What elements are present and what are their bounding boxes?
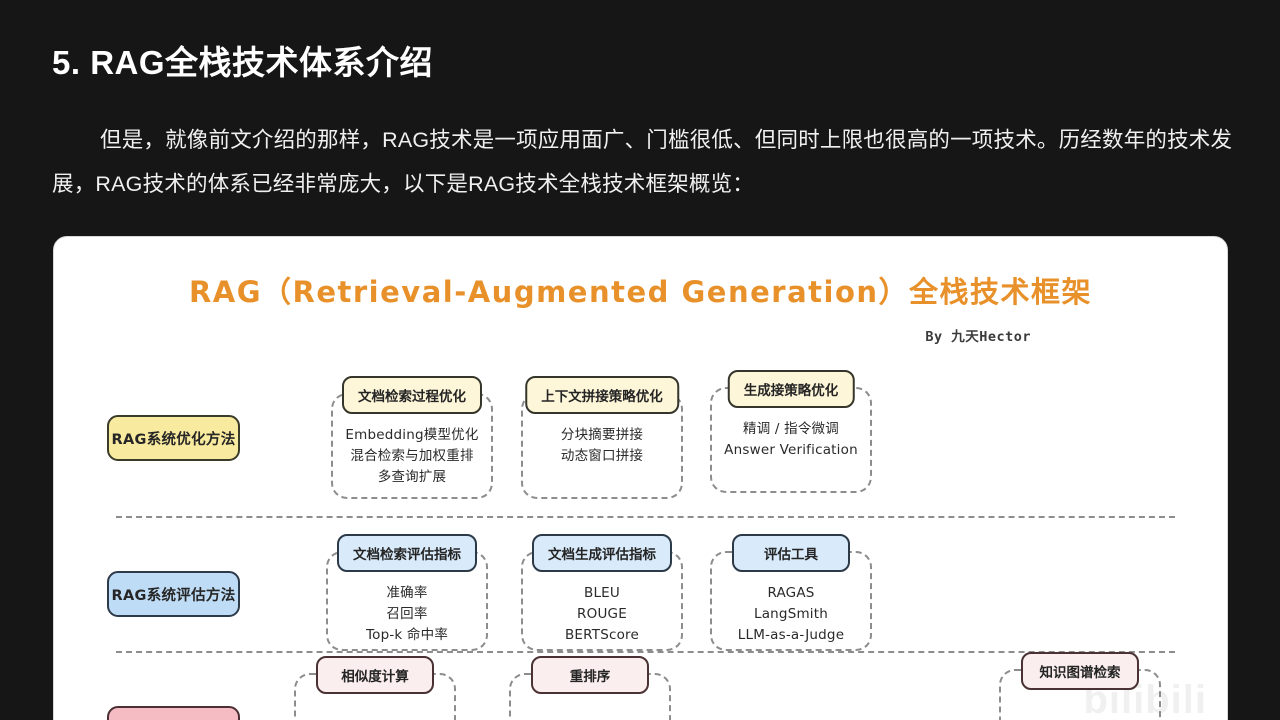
group-generation-strategy-optimization[interactable]: 生成接策略优化 精调 / 指令微调 Answer Verification [710,387,872,493]
group-item: 精调 / 指令微调 [712,419,870,440]
diagram-title: RAG（Retrieval-Augmented Generation）全栈技术框… [54,269,1227,311]
group-item: 准确率 [328,583,486,604]
group-item: 召回率 [328,604,486,625]
group-header[interactable]: 文档生成评估指标 [532,534,672,572]
row-optimization: RAG系统优化方法 文档检索过程优化 Embedding模型优化 混合检索与加权… [54,361,1227,515]
group-reranking[interactable]: 重排序 [509,673,671,720]
group-body: BLEU ROUGE BERTScore [523,583,681,646]
group-item: BLEU [523,583,681,604]
group-item: 分块摘要拼接 [523,425,681,446]
row-retrieval-techniques: 相似度计算 重排序 知识图谱检索 [54,651,1227,720]
row-separator-1 [116,516,1175,518]
group-item: 多查询扩展 [333,467,491,488]
body-paragraph: 但是，就像前文介绍的那样，RAG技术是一项应用面广、门槛很低、但同时上限也很高的… [52,118,1242,206]
page-title: 5. RAG全栈技术体系介绍 [52,36,433,84]
group-item: BERTScore [523,625,681,646]
group-body: 准确率 召回率 Top-k 命中率 [328,583,486,646]
group-header[interactable]: 知识图谱检索 [1021,652,1139,690]
category-rag-evaluation[interactable]: RAG系统评估方法 [107,571,240,617]
group-item: Answer Verification [712,440,870,461]
group-header[interactable]: 重排序 [531,656,649,694]
slide-root: 5. RAG全栈技术体系介绍 但是，就像前文介绍的那样，RAG技术是一项应用面广… [0,0,1280,720]
group-header[interactable]: 上下文拼接策略优化 [525,376,679,414]
category-rag-retrieval[interactable] [107,706,240,720]
diagram-card: bilibili RAG（Retrieval-Augmented Generat… [53,236,1228,720]
group-context-assembly-optimization[interactable]: 上下文拼接策略优化 分块摘要拼接 动态窗口拼接 [521,393,683,499]
group-body: RAGAS LangSmith LLM-as-a-Judge [712,583,870,646]
group-knowledge-graph-retrieval[interactable]: 知识图谱检索 [999,669,1161,720]
group-header[interactable]: 生成接策略优化 [728,370,855,408]
group-header[interactable]: 文档检索过程优化 [342,376,482,414]
row-evaluation: RAG系统评估方法 文档检索评估指标 准确率 召回率 Top-k 命中率 文档生… [54,529,1227,663]
group-doc-retrieval-optimization[interactable]: 文档检索过程优化 Embedding模型优化 混合检索与加权重排 多查询扩展 [331,393,493,499]
group-item: LLM-as-a-Judge [712,625,870,646]
group-item: ROUGE [523,604,681,625]
group-header[interactable]: 相似度计算 [316,656,434,694]
group-item: Embedding模型优化 [333,425,491,446]
group-body: Embedding模型优化 混合检索与加权重排 多查询扩展 [333,425,491,488]
group-item: 混合检索与加权重排 [333,446,491,467]
group-generation-metrics[interactable]: 文档生成评估指标 BLEU ROUGE BERTScore [521,551,683,651]
group-item: 动态窗口拼接 [523,446,681,467]
group-header[interactable]: 评估工具 [732,534,850,572]
category-rag-optimization[interactable]: RAG系统优化方法 [107,415,240,461]
group-header[interactable]: 文档检索评估指标 [337,534,477,572]
group-evaluation-tools[interactable]: 评估工具 RAGAS LangSmith LLM-as-a-Judge [710,551,872,651]
group-item: LangSmith [712,604,870,625]
group-item: Top-k 命中率 [328,625,486,646]
group-item: RAGAS [712,583,870,604]
group-retrieval-metrics[interactable]: 文档检索评估指标 准确率 召回率 Top-k 命中率 [326,551,488,651]
group-similarity-computation[interactable]: 相似度计算 [294,673,456,720]
group-body: 分块摘要拼接 动态窗口拼接 [523,425,681,467]
diagram-byline: By 九天Hector [925,325,1031,345]
group-body: 精调 / 指令微调 Answer Verification [712,419,870,461]
